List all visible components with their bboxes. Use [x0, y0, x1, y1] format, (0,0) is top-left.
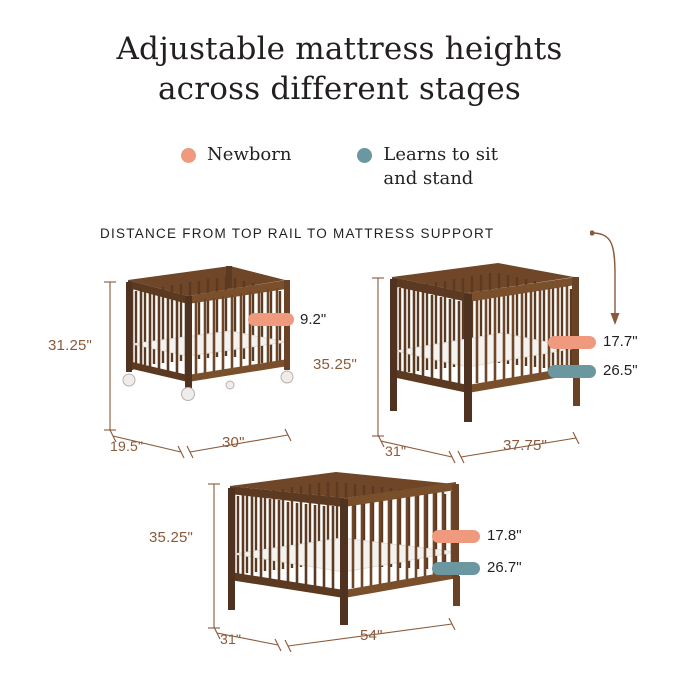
crib-mini-crib-callout-newborn-value: 9.2": [300, 311, 326, 328]
crib-full-size-crib-illustration: [214, 462, 469, 642]
crib-full-size-crib-depth-value: 31": [220, 631, 241, 647]
infographic-page: Adjustable mattress heights across diffe…: [0, 0, 679, 679]
crib-mini-crib-callout-pill-newborn: [248, 313, 294, 326]
caption-distance-label: DISTANCE FROM TOP RAIL TO MATTRESS SUPPO…: [100, 226, 494, 241]
crib-mini-crib-illustration: [110, 258, 310, 448]
crib-mini-crib-depth-value: 19.5": [110, 438, 143, 454]
crib-standard-crib-callout-newborn-value: 17.7": [603, 333, 638, 350]
crib-full-size-crib-callout-newborn-value: 17.8": [487, 527, 522, 544]
crib-mini-crib-height-value: 31.25": [48, 337, 92, 354]
crib-standard-crib-callout-pill-sit-stand: [548, 365, 596, 378]
crib-full-size-crib-callout-sit-stand-value: 26.7": [487, 559, 522, 576]
crib-standard-crib-height-value: 35.25": [313, 356, 357, 373]
page-title-line2: across different stages: [0, 70, 679, 110]
crib-full-size-crib-callout-pill-sit-stand: [432, 562, 480, 575]
legend-dot-peach-icon: [181, 148, 196, 163]
crib-full-size-crib-width-value: 54": [360, 627, 383, 644]
legend-item-learns-to-sit-and-stand: Learns to sit and stand: [357, 143, 498, 191]
legend-label-newborn: Newborn: [207, 143, 291, 167]
page-title: Adjustable mattress heights across diffe…: [0, 30, 679, 109]
crib-mini-crib-width-value: 30": [222, 434, 245, 451]
legend-dot-teal-icon: [357, 148, 372, 163]
legend: Newborn Learns to sit and stand: [0, 143, 679, 191]
crib-standard-crib-callout-pill-newborn: [548, 336, 596, 349]
curved-arrow-down-icon: [590, 225, 620, 330]
crib-standard-crib-width-value: 37.75": [503, 437, 547, 454]
crib-mini-crib: [110, 258, 310, 448]
crib-full-size-crib-height-value: 35.25": [149, 529, 193, 546]
page-title-line1: Adjustable mattress heights: [116, 31, 562, 67]
crib-standard-crib-callout-sit-stand-value: 26.5": [603, 362, 638, 379]
legend-label-learns-to-sit-and-stand: Learns to sit and stand: [383, 143, 498, 191]
legend-item-newborn: Newborn: [181, 143, 291, 191]
crib-full-size-crib-callout-pill-newborn: [432, 530, 480, 543]
crib-standard-crib-depth-value: 31": [385, 443, 406, 459]
crib-standard-crib: [378, 255, 593, 450]
crib-standard-crib-illustration: [378, 255, 593, 450]
crib-full-size-crib: [214, 462, 469, 642]
